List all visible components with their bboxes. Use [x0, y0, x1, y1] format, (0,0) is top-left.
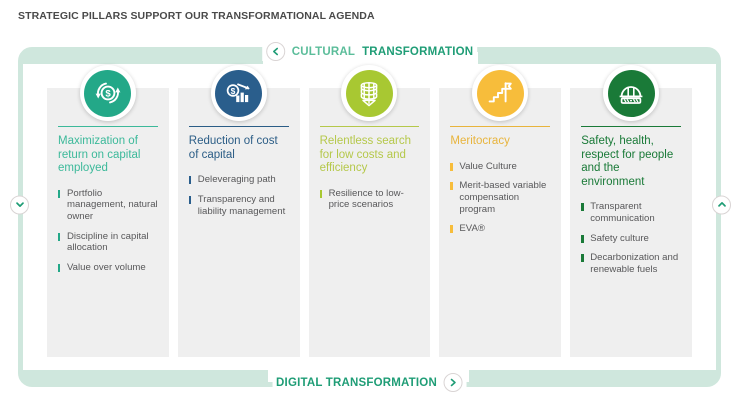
list-item: Merit-based variable compensation progra… [450, 180, 550, 215]
bullet-marker [581, 203, 583, 211]
pillar-heading: Relentless search for low costs and effi… [320, 135, 420, 176]
pillar-card-reduction-of-cost-of-capital[interactable]: $ Reduction of cost of capital Deleverag… [178, 88, 300, 357]
pillar-medallion: $ [211, 65, 267, 121]
circular-arrows-dollar-icon: $ [84, 70, 131, 117]
bullet-marker [581, 235, 583, 243]
list-item-label: Deleveraging path [198, 174, 276, 185]
chevron-up-icon[interactable] [712, 195, 731, 214]
page-title: STRATEGIC PILLARS SUPPORT OUR TRANSFORMA… [18, 10, 375, 22]
declining-bar-chart-dollar-icon: $ [215, 70, 262, 117]
svg-text:$: $ [230, 86, 235, 96]
list-item-label: Decarbonization and renewable fuels [590, 252, 678, 275]
pillar-heading: Safety, health, respect for people and t… [581, 135, 681, 189]
svg-text:$: $ [105, 89, 111, 100]
pillar-bullet-list: Transparent communication Safety culture… [581, 201, 681, 275]
list-item-label: Resilience to low-price scenarios [329, 188, 404, 211]
list-item: Transparent communication [581, 201, 681, 224]
list-item-label: Value over volume [67, 262, 146, 273]
list-item: Discipline in capital allocation [58, 231, 158, 254]
chevron-left-icon[interactable] [266, 42, 285, 61]
pillar-card-meritocracy[interactable]: Meritocracy Value Culture Merit-based va… [439, 88, 561, 357]
list-item-label: EVA® [459, 223, 485, 234]
pillar-medallion: $ [80, 65, 136, 121]
pillar-divider [581, 126, 681, 127]
list-item-label: Safety culture [590, 233, 649, 244]
list-item-label: Value Culture [459, 161, 516, 172]
pillar-divider [58, 126, 158, 127]
pillar-divider [189, 126, 289, 127]
bullet-marker [581, 254, 583, 262]
banner-label-transformation: TRANSFORMATION [362, 46, 473, 58]
pillar-bullet-list: Portfolio management, natural owner Disc… [58, 188, 158, 274]
list-item: Value Culture [450, 161, 550, 173]
bottom-banner-strip-right [469, 370, 716, 382]
chevron-right-icon[interactable] [444, 373, 463, 392]
pillar-heading: Meritocracy [450, 135, 550, 149]
bullet-marker [189, 196, 191, 204]
top-banner-strip-right [478, 52, 716, 64]
digital-transformation-banner[interactable]: DIGITAL TRANSFORMATION [272, 373, 467, 392]
cultural-transformation-banner[interactable]: CULTURALTRANSFORMATION [262, 42, 478, 61]
list-item-label: Transparent communication [590, 201, 655, 224]
stacked-coins-down-arrow-icon [346, 70, 393, 117]
pillar-medallion [603, 65, 659, 121]
list-item: Safety culture [581, 233, 681, 245]
pillar-card-maximization-of-return[interactable]: $ Maximization of return on capital empl… [47, 88, 169, 357]
stairs-flag-icon [477, 70, 524, 117]
pillar-heading: Maximization of return on capital employ… [58, 135, 158, 176]
bottom-banner-strip-left [23, 370, 268, 382]
list-item: Deleveraging path [189, 174, 289, 186]
list-item-label: Merit-based variable compensation progra… [459, 180, 546, 214]
bullet-marker [58, 233, 60, 241]
bullet-marker [58, 190, 60, 198]
bullet-marker [450, 225, 452, 233]
hard-hat-goggles-icon [608, 70, 655, 117]
list-item: Portfolio management, natural owner [58, 188, 158, 223]
pillar-bullet-list: Resilience to low-price scenarios [320, 188, 420, 211]
list-item: Resilience to low-price scenarios [320, 188, 420, 211]
pillar-heading: Reduction of cost of capital [189, 135, 289, 162]
list-item-label: Discipline in capital allocation [67, 231, 149, 254]
bullet-marker [320, 190, 322, 198]
list-item: Transparency and liability management [189, 194, 289, 217]
banner-label-digital: DIGITAL TRANSFORMATION [276, 377, 437, 389]
pillar-card-relentless-search-low-costs[interactable]: Relentless search for low costs and effi… [309, 88, 431, 357]
chevron-down-icon[interactable] [10, 195, 29, 214]
list-item-label: Transparency and liability management [198, 194, 285, 217]
list-item: Decarbonization and renewable fuels [581, 252, 681, 275]
pillar-medallion [341, 65, 397, 121]
bullet-marker [450, 182, 452, 190]
pillar-bullet-list: Deleveraging path Transparency and liabi… [189, 174, 289, 217]
banner-label-cultural: CULTURAL [292, 46, 355, 58]
pillars-frame: CULTURALTRANSFORMATION DIGITAL TRANSFORM… [18, 47, 721, 387]
bullet-marker [450, 163, 452, 171]
list-item: Value over volume [58, 262, 158, 274]
pillar-divider [320, 126, 420, 127]
list-item: EVA® [450, 223, 550, 235]
list-item-label: Portfolio management, natural owner [67, 188, 158, 222]
pillar-divider [450, 126, 550, 127]
pillar-card-safety-health-environment[interactable]: Safety, health, respect for people and t… [570, 88, 692, 357]
bullet-marker [58, 264, 60, 272]
bullet-marker [189, 176, 191, 184]
pillar-medallion [472, 65, 528, 121]
pillar-bullet-list: Value Culture Merit-based variable compe… [450, 161, 550, 235]
pillar-card-row: $ Maximization of return on capital empl… [23, 64, 716, 370]
top-banner-strip-left [23, 52, 263, 64]
